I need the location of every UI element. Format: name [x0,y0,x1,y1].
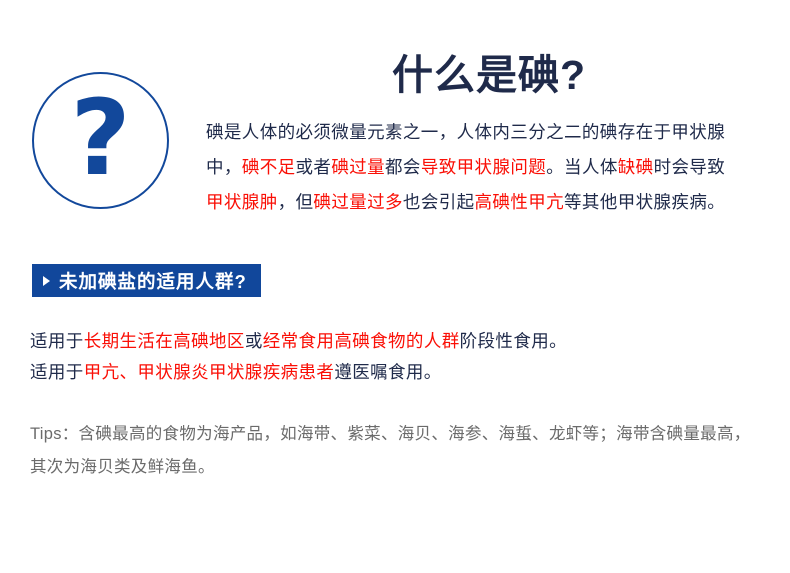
highlighted-text: 碘过量过多 [313,192,403,212]
intro-paragraph: 碘是人体的必须微量元素之一，人体内三分之二的碘存在于甲状腺中，碘不足或者碘过量都… [206,115,776,220]
highlighted-text: 甲亢、甲状腺炎甲状腺疾病患者 [84,362,335,382]
highlighted-text: 缺碘 [618,157,654,177]
plain-text: 也会引起 [403,192,475,212]
plain-text: 中， [206,157,242,177]
plain-text: ，但 [278,192,314,212]
plain-text: 。当人体 [546,157,618,177]
plain-text: 适用于 [30,362,84,382]
plain-text: 或 [245,331,263,351]
page-root: ? 什么是碘? 碘是人体的必须微量元素之一，人体内三分之二的碘存在于甲状腺中，碘… [0,0,790,573]
plain-text: 时会导致 [654,157,726,177]
question-mark-icon: ? [34,74,167,207]
plain-text: 碘是人体的必须微量元素之一，人体内三分之二的碘存在于甲状腺 [206,122,725,142]
highlighted-text: 长期生活在高碘地区 [84,331,245,351]
text-line: 碘是人体的必须微量元素之一，人体内三分之二的碘存在于甲状腺 [206,115,776,150]
text-line: 甲状腺肿，但碘过量过多也会引起高碘性甲亢等其他甲状腺疾病。 [206,185,776,220]
highlighted-text: 甲状腺肿 [206,192,278,212]
highlighted-text: 导致甲状腺问题 [421,157,546,177]
highlighted-text: 高碘性甲亢 [475,192,565,212]
plain-text: 等其他甲状腺疾病。 [564,192,725,212]
highlighted-text: 碘过量 [331,157,385,177]
triangle-right-icon [43,276,50,286]
plain-text: 遵医嘱食用。 [334,362,441,382]
plain-text: 阶段性食用。 [460,331,567,351]
tips-block: Tips：含碘最高的食物为海产品，如海带、紫菜、海贝、海参、海蜇、龙虾等；海带含… [30,418,778,484]
plain-text: 或者 [296,157,332,177]
text-line: 中，碘不足或者碘过量都会导致甲状腺问题。当人体缺碘时会导致 [206,150,776,185]
plain-text: 适用于 [30,331,84,351]
highlighted-text: 碘不足 [242,157,296,177]
text-line: Tips：含碘最高的食物为海产品，如海带、紫菜、海贝、海参、海蜇、龙虾等；海带含… [30,418,778,451]
text-line: 适用于甲亢、甲状腺炎甲状腺疾病患者遵医嘱食用。 [30,357,770,388]
applicability-list: 适用于长期生活在高碘地区或经常食用高碘食物的人群阶段性食用。适用于甲亢、甲状腺炎… [30,326,770,388]
question-mark-badge: ? [32,72,169,209]
text-line: 适用于长期生活在高碘地区或经常食用高碘食物的人群阶段性食用。 [30,326,770,357]
page-title: 什么是碘? [206,52,772,99]
highlighted-text: 经常食用高碘食物的人群 [263,331,460,351]
section-banner-label: 未加碘盐的适用人群? [59,268,247,294]
section-banner-applicable-groups: 未加碘盐的适用人群? [32,264,261,297]
text-line: 其次为海贝类及鲜海鱼。 [30,451,778,484]
plain-text: 都会 [385,157,421,177]
